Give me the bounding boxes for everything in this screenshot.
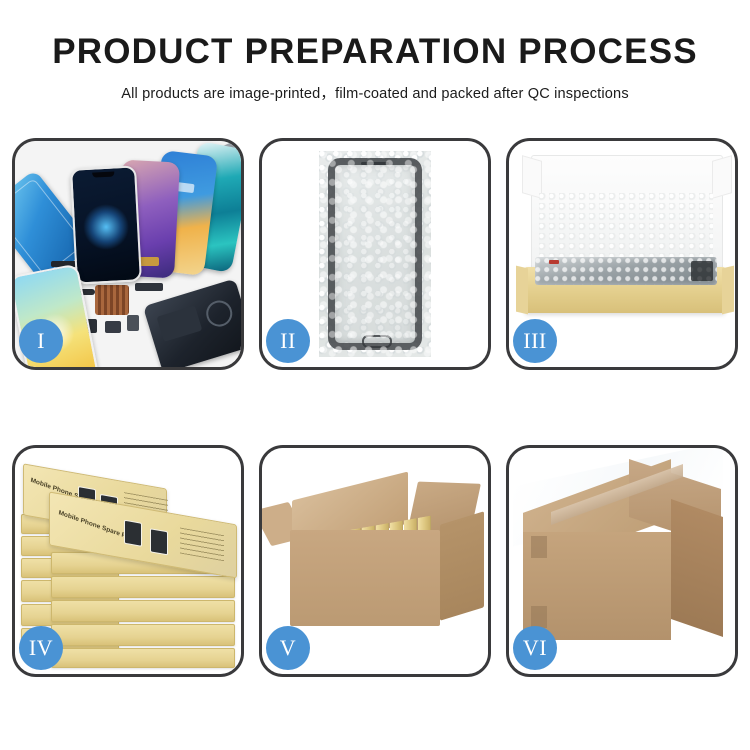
step-panel-6: VI	[506, 445, 738, 677]
step-badge-6: VI	[513, 626, 557, 670]
carton-handle-bottom	[531, 606, 547, 628]
step-panel-1: I	[12, 138, 244, 370]
step-badge-3: III	[513, 319, 557, 363]
step-panel-3: III	[506, 138, 738, 370]
page-title: PRODUCT PREPARATION PROCESS	[0, 34, 750, 69]
header: PRODUCT PREPARATION PROCESS All products…	[0, 0, 750, 103]
packed-screen	[535, 257, 717, 285]
carton-side	[440, 511, 484, 620]
step-badge-5: V	[266, 626, 310, 670]
phone-display-black	[70, 165, 142, 284]
step-badge-2: II	[266, 319, 310, 363]
steps-grid: I II	[12, 138, 738, 684]
bubble-texture	[319, 151, 431, 357]
sealed-carton-side	[671, 499, 723, 637]
step-badge-1: I	[19, 319, 63, 363]
step-panel-4: Mobile Phone Spare Parts Mobile Phone Sp…	[12, 445, 244, 677]
carton-front	[290, 530, 440, 626]
foam-padding	[539, 193, 713, 267]
step-panel-2: II	[259, 138, 491, 370]
bubble-wrap-sheet	[319, 151, 431, 357]
step-panel-5: V	[259, 445, 491, 677]
product-preparation-infographic: PRODUCT PREPARATION PROCESS All products…	[0, 0, 750, 750]
step-badge-4: IV	[19, 626, 63, 670]
carton-handle-top	[531, 536, 547, 558]
page-subtitle: All products are image-printed，film-coat…	[0, 82, 750, 103]
